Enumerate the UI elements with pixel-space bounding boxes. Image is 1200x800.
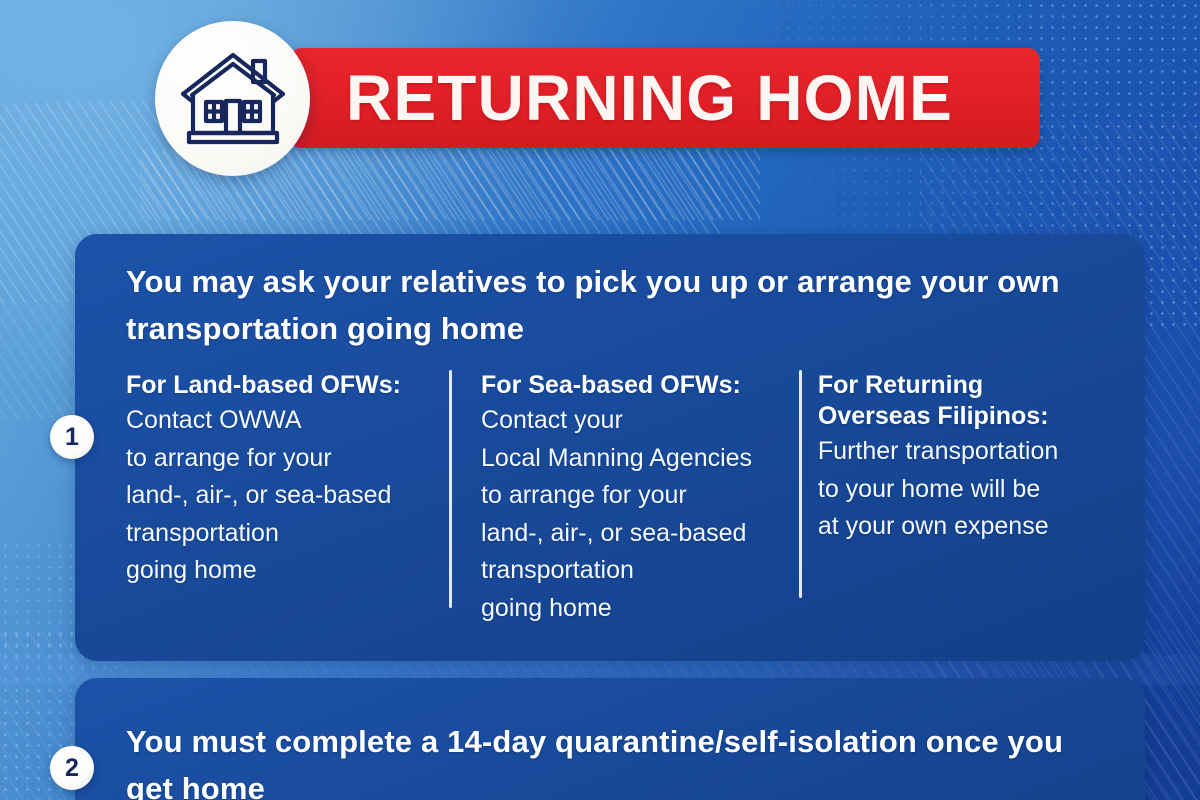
column-returning-overseas-filipinos: For Returning Overseas Filipinos: Furthe… xyxy=(794,370,1125,627)
step-card-1: You may ask your relatives to pick you u… xyxy=(75,234,1145,661)
step-2-heading: You must complete a 14-day quarantine/se… xyxy=(126,718,1106,800)
page-title: RETURNING HOME xyxy=(291,66,953,130)
column-sea-based-ofws-title: For Sea-based OFWs: xyxy=(481,370,772,401)
step-1-heading: You may ask your relatives to pick you u… xyxy=(126,258,1086,352)
column-sea-based-ofws: For Sea-based OFWs: Contact your Local M… xyxy=(457,370,794,627)
column-divider-2 xyxy=(799,370,802,598)
step-card-2: You must complete a 14-day quarantine/se… xyxy=(75,678,1145,800)
column-land-based-ofws-body: Contact OWWA to arrange for your land-, … xyxy=(126,402,435,590)
house-icon xyxy=(179,51,287,147)
column-divider-1 xyxy=(449,370,452,608)
column-returning-overseas-filipinos-title: For Returning Overseas Filipinos: xyxy=(818,370,1125,432)
title-banner: RETURNING HOME xyxy=(291,48,1040,148)
column-land-based-ofws: For Land-based OFWs: Contact OWWA to arr… xyxy=(126,370,457,627)
column-sea-based-ofws-body: Contact your Local Manning Agencies to a… xyxy=(481,402,772,627)
header: RETURNING HOME xyxy=(0,0,1200,200)
step-1-columns: For Land-based OFWs: Contact OWWA to arr… xyxy=(126,370,1125,627)
house-icon-badge xyxy=(155,21,310,176)
column-returning-overseas-filipinos-body: Further transportation to your home will… xyxy=(818,433,1125,546)
step-badge-1: 1 xyxy=(50,415,94,459)
column-land-based-ofws-title: For Land-based OFWs: xyxy=(126,370,435,401)
step-badge-2: 2 xyxy=(50,746,94,790)
